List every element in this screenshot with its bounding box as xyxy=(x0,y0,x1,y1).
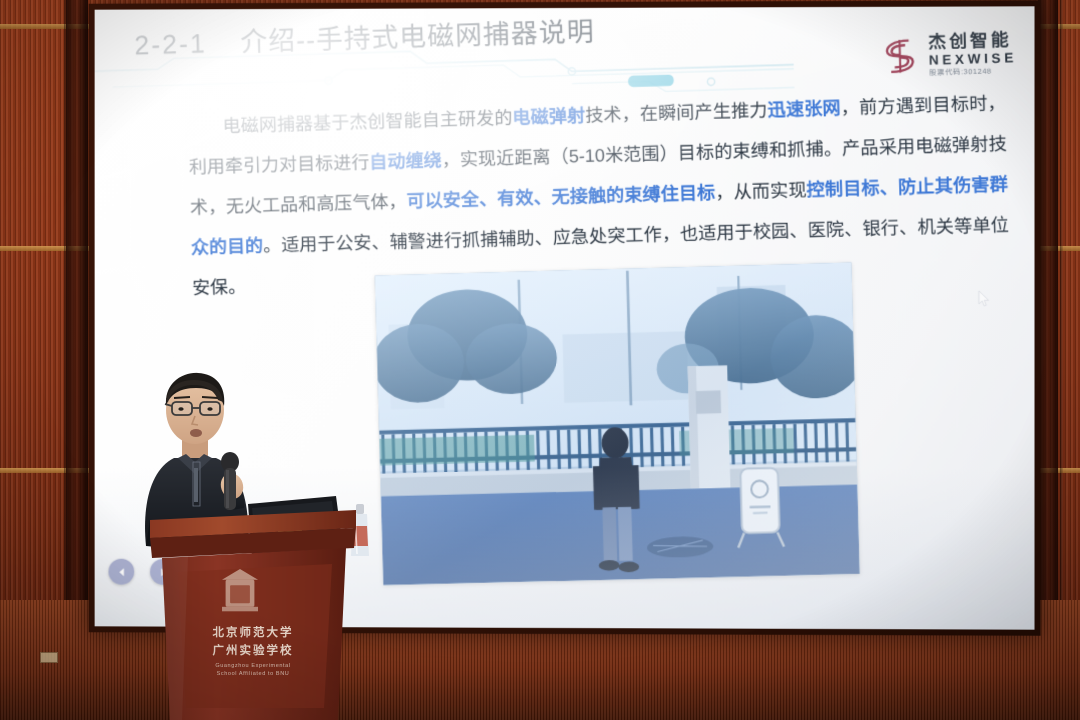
slide-photo xyxy=(375,262,860,585)
nexwise-logo-mark-icon xyxy=(877,34,922,79)
presentation-scene: 2-2-1 介绍--手持式电磁网捕器说明 xyxy=(0,0,1080,720)
podium: 北京师范大学 广州实验学校 Guangzhou Experimental Sch… xyxy=(148,508,358,720)
body-segment-5: 自动缠绕 xyxy=(369,150,442,173)
body-segment-7: 可以安全、有效、无接触的束缚住目标 xyxy=(406,182,715,211)
podium-shape xyxy=(148,508,358,720)
logo-stock-code: 股票代码:301248 xyxy=(929,68,1017,78)
body-segment-1: 电磁弹射 xyxy=(512,105,585,128)
wall-plate xyxy=(40,652,58,663)
body-segment-8: ，从而实现 xyxy=(715,180,807,203)
photo-illustration xyxy=(375,262,860,585)
body-rich-text: 电磁网捕器基于杰创智能自主研发的电磁弹射技术，在瞬间产生推力迅速张网，前方遇到目… xyxy=(189,93,1010,298)
slide-title-number: 2-2-1 xyxy=(134,28,207,61)
body-segment-0: 电磁网捕器基于杰创智能自主研发的 xyxy=(222,107,512,136)
company-logo: 杰创智能 NEXWISE 股票代码:301248 xyxy=(877,31,1018,80)
mouse-pointer-icon xyxy=(978,290,990,308)
logo-name-cn: 杰创智能 xyxy=(928,31,1017,52)
logo-name-en: NEXWISE xyxy=(929,51,1018,68)
body-segment-3: 迅速张网 xyxy=(767,98,841,121)
body-segment-2: 技术，在瞬间产生推力 xyxy=(585,100,768,126)
